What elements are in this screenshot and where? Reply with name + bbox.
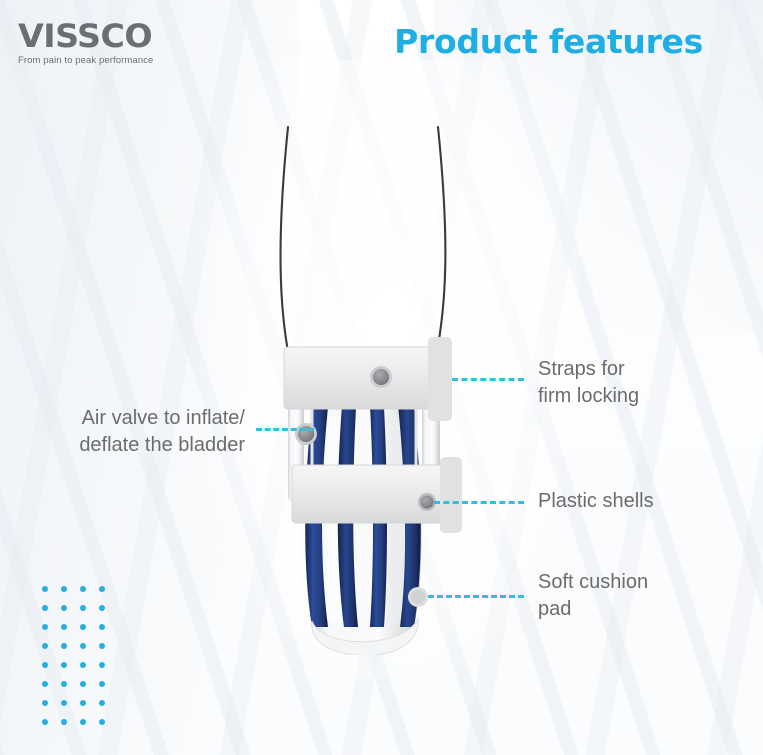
- callout-cushion-pad-line-1: Soft cushion: [538, 569, 648, 596]
- dot: [42, 681, 48, 687]
- dot: [99, 719, 105, 725]
- callout-straps-line-1: Straps for: [538, 356, 639, 383]
- dot: [42, 624, 48, 630]
- leader-line-cushion-pad: [428, 595, 524, 598]
- dot: [61, 719, 67, 725]
- upper-cords: [281, 127, 446, 357]
- dot: [42, 586, 48, 592]
- dot: [80, 586, 86, 592]
- callout-straps-line-2: firm locking: [538, 383, 639, 410]
- dot: [80, 605, 86, 611]
- vissco-logo: VISSCO From pain to peak performance: [18, 20, 193, 66]
- grommet-cushion-pad: [408, 587, 428, 607]
- callout-label-plastic-shells: Plastic shells: [538, 488, 654, 515]
- logo-tagline: From pain to peak performance: [18, 56, 193, 66]
- leader-line-air-valve: [256, 428, 314, 431]
- dot: [61, 624, 67, 630]
- dot: [99, 624, 105, 630]
- leader-line-plastic-shells: [434, 501, 524, 504]
- dot: [80, 662, 86, 668]
- dot: [99, 700, 105, 706]
- dot: [99, 605, 105, 611]
- product-features-slide: VISSCO From pain to peak performance Pro…: [0, 0, 763, 755]
- grommet-air-valve: [295, 423, 317, 445]
- dot: [99, 681, 105, 687]
- dot: [61, 586, 67, 592]
- dot: [80, 700, 86, 706]
- dot: [42, 700, 48, 706]
- callout-label-cushion-pad: Soft cushion pad: [538, 569, 648, 623]
- logo-wordmark: VISSCO: [18, 20, 200, 52]
- dot: [42, 605, 48, 611]
- callout-air-valve-line-1: Air valve to inflate/: [79, 405, 245, 432]
- dot: [99, 662, 105, 668]
- dot: [80, 719, 86, 725]
- dot: [42, 719, 48, 725]
- upper-strap: [284, 337, 452, 421]
- callout-label-air-valve: Air valve to inflate/ deflate the bladde…: [79, 405, 245, 459]
- dot: [61, 700, 67, 706]
- callout-cushion-pad-line-2: pad: [538, 596, 648, 623]
- dot: [61, 662, 67, 668]
- leader-line-straps: [452, 378, 524, 381]
- page-title: Product features: [394, 22, 703, 61]
- grommet-upper-strap: [370, 366, 392, 388]
- dot: [80, 643, 86, 649]
- dot: [80, 681, 86, 687]
- dot: [61, 681, 67, 687]
- dot: [99, 586, 105, 592]
- callout-plastic-shells-line-1: Plastic shells: [538, 488, 654, 515]
- dot: [61, 643, 67, 649]
- dot: [99, 643, 105, 649]
- dot: [80, 624, 86, 630]
- dot: [42, 662, 48, 668]
- decorative-dot-grid: [42, 586, 118, 738]
- dot: [42, 643, 48, 649]
- dot: [61, 605, 67, 611]
- callout-air-valve-line-2: deflate the bladder: [79, 432, 245, 459]
- callout-label-straps: Straps for firm locking: [538, 356, 639, 410]
- lower-strap: [292, 457, 462, 533]
